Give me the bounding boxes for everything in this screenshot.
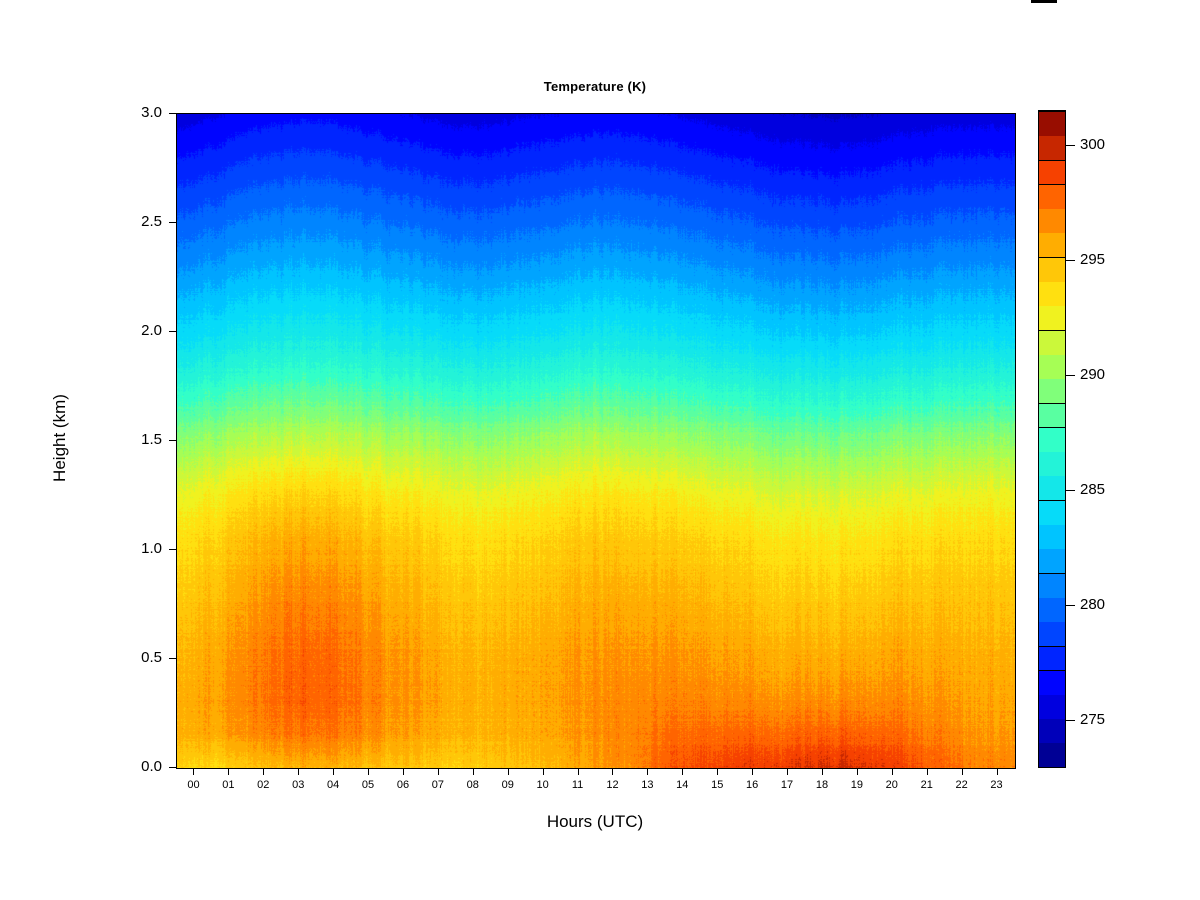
x-axis-tick	[717, 768, 718, 775]
x-axis-tick	[403, 768, 404, 775]
colorbar-tick-label: 300	[1080, 136, 1105, 153]
colorbar-tick	[1066, 490, 1075, 491]
x-axis-tick	[508, 768, 509, 775]
x-axis-tick	[927, 768, 928, 775]
y-axis-tick	[169, 440, 176, 441]
colorbar-block	[1039, 573, 1065, 598]
colorbar-block	[1039, 111, 1065, 136]
colorbar-block	[1039, 451, 1065, 476]
y-axis-tick-label: 1.5	[100, 431, 162, 448]
colorbar-block	[1039, 135, 1065, 160]
colorbar	[1038, 110, 1066, 768]
colorbar-block	[1039, 646, 1065, 671]
x-axis-tick	[612, 768, 613, 775]
colorbar-tick	[1066, 260, 1075, 261]
colorbar-tick	[1066, 605, 1075, 606]
x-axis-tick	[228, 768, 229, 775]
colorbar-block	[1039, 743, 1065, 768]
colorbar-block	[1039, 305, 1065, 330]
colorbar-block	[1039, 281, 1065, 306]
y-axis-tick	[169, 658, 176, 659]
x-axis-tick-label: 23	[977, 779, 1017, 791]
colorbar-block	[1039, 694, 1065, 719]
y-axis-tick-label: 1.0	[100, 540, 162, 557]
colorbar-tick	[1066, 145, 1075, 146]
y-axis-tick	[169, 113, 176, 114]
x-axis-tick	[438, 768, 439, 775]
x-axis-tick	[543, 768, 544, 775]
colorbar-block	[1039, 403, 1065, 428]
x-axis-tick	[647, 768, 648, 775]
x-axis-tick	[682, 768, 683, 775]
x-axis-tick	[787, 768, 788, 775]
colorbar-block	[1039, 718, 1065, 743]
temperature-heatmap	[177, 114, 1015, 768]
colorbar-block	[1039, 670, 1065, 695]
colorbar-block	[1039, 354, 1065, 379]
colorbar-tick-label: 285	[1080, 481, 1105, 498]
colorbar-block	[1039, 330, 1065, 355]
x-axis-tick	[473, 768, 474, 775]
temperature-time-height-figure: Temperature (K) 000102030405060708091011…	[0, 0, 1200, 900]
colorbar-block	[1039, 160, 1065, 185]
colorbar-block	[1039, 184, 1065, 209]
colorbar-block	[1039, 427, 1065, 452]
x-axis-tick	[333, 768, 334, 775]
x-axis-tick	[368, 768, 369, 775]
y-axis-tick-label: 2.0	[100, 322, 162, 339]
top-edge-artifact	[1031, 0, 1057, 3]
colorbar-block	[1039, 500, 1065, 525]
x-axis-tick	[997, 768, 998, 775]
colorbar-block	[1039, 548, 1065, 573]
y-axis-tick	[169, 222, 176, 223]
colorbar-tick	[1066, 375, 1075, 376]
y-axis-tick-label: 2.5	[100, 213, 162, 230]
colorbar-tick-label: 280	[1080, 596, 1105, 613]
x-axis-tick	[892, 768, 893, 775]
colorbar-tick-label: 290	[1080, 366, 1105, 383]
x-axis-tick	[752, 768, 753, 775]
colorbar-tick	[1066, 720, 1075, 721]
colorbar-block	[1039, 475, 1065, 500]
x-axis-tick	[193, 768, 194, 775]
colorbar-tick-label: 275	[1080, 711, 1105, 728]
y-axis-tick-label: 0.0	[100, 758, 162, 775]
y-axis-title: Height (km)	[50, 338, 70, 538]
y-axis-tick	[169, 331, 176, 332]
y-axis-tick-label: 0.5	[100, 649, 162, 666]
colorbar-block	[1039, 621, 1065, 646]
colorbar-tick-label: 295	[1080, 251, 1105, 268]
x-axis-tick	[263, 768, 264, 775]
colorbar-block	[1039, 257, 1065, 282]
y-axis-tick	[169, 549, 176, 550]
x-axis-tick	[298, 768, 299, 775]
colorbar-block	[1039, 208, 1065, 233]
colorbar-block	[1039, 232, 1065, 257]
colorbar-block	[1039, 597, 1065, 622]
y-axis-tick	[169, 767, 176, 768]
colorbar-block	[1039, 378, 1065, 403]
x-axis-tick	[857, 768, 858, 775]
colorbar-block	[1039, 524, 1065, 549]
x-axis-tick	[962, 768, 963, 775]
x-axis-tick	[578, 768, 579, 775]
y-axis-tick-label: 3.0	[100, 104, 162, 121]
page-title: Temperature (K)	[176, 79, 1014, 94]
x-axis-tick	[822, 768, 823, 775]
heatmap-plot-area	[176, 113, 1016, 769]
x-axis-title: Hours (UTC)	[176, 812, 1014, 832]
